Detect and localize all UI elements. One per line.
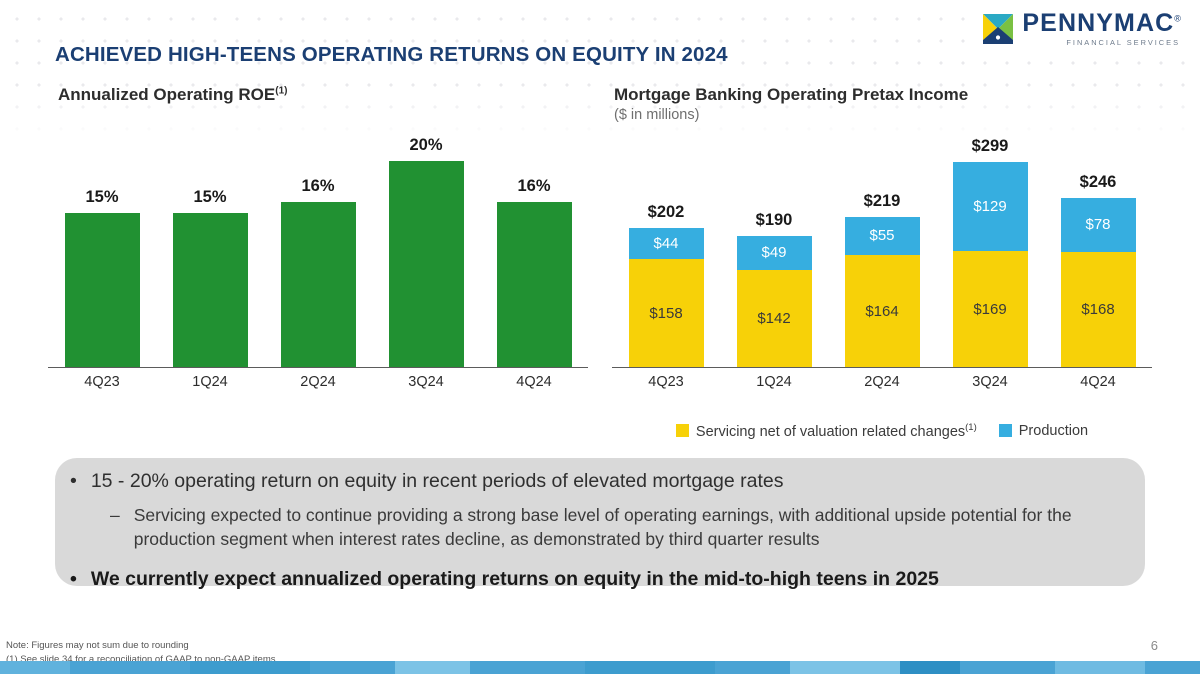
page-title: ACHIEVED HIGH-TEENS OPERATING RETURNS ON… <box>55 43 728 67</box>
bar-group: 16% <box>480 120 588 368</box>
bar-group: 15% <box>156 120 264 368</box>
bullet-item-1: • 15 - 20% operating return on equity in… <box>70 468 1160 494</box>
bullet-marker-icon: • <box>70 566 77 592</box>
bar-group: $202$44$158 <box>612 120 720 368</box>
right-chart-x-axis-labels: 4Q231Q242Q243Q244Q24 <box>612 370 1152 394</box>
dash-marker-icon: – <box>110 503 120 551</box>
x-axis-label: 4Q24 <box>480 374 588 390</box>
x-axis-label: 4Q23 <box>48 374 156 390</box>
bar-total-label: $190 <box>756 211 793 230</box>
left-chart-plot-area: 15%15%16%20%16% <box>48 120 588 368</box>
bar-segment-production-label: $44 <box>653 235 678 252</box>
bar-segment-production: $55 <box>845 217 920 255</box>
bar-segment-production: $129 <box>953 162 1028 251</box>
bar-group: $219$55$164 <box>828 120 936 368</box>
right-chart-heading: Mortgage Banking Operating Pretax Income <box>614 85 968 105</box>
pennymac-logo: PENNYMAC® FINANCIAL SERVICES <box>977 8 1186 49</box>
bar-segment-servicing-label: $164 <box>865 303 898 320</box>
x-axis-label: 4Q23 <box>612 374 720 390</box>
x-axis-label: 3Q24 <box>936 374 1044 390</box>
right-chart-legend: Servicing net of valuation related chang… <box>612 422 1152 440</box>
bar-value-label: 16% <box>301 177 334 196</box>
stacked-bar: $55$164 <box>845 217 920 368</box>
bullet-item-3-text: We currently expect annualized operating… <box>91 566 939 592</box>
bar-group: $246$78$168 <box>1044 120 1152 368</box>
bar-segment-servicing: $164 <box>845 255 920 368</box>
bar-segment-servicing-label: $168 <box>1081 301 1114 318</box>
bar-segment-servicing: $158 <box>629 259 704 368</box>
x-axis-label: 2Q24 <box>828 374 936 390</box>
bar-segment-production-label: $129 <box>973 198 1006 215</box>
right-chart-subtitle: ($ in millions) <box>614 107 699 123</box>
stacked-bar: $49$142 <box>737 236 812 368</box>
bar-segment-servicing-label: $158 <box>649 305 682 322</box>
x-axis-label: 3Q24 <box>372 374 480 390</box>
bar-group: 20% <box>372 120 480 368</box>
bar-segment-servicing: $168 <box>1061 252 1136 368</box>
bar-group: $299$129$169 <box>936 120 1044 368</box>
legend-item-production: Production <box>999 423 1088 439</box>
x-axis-label: 4Q24 <box>1044 374 1152 390</box>
bullet-item-1-text: 15 - 20% operating return on equity in r… <box>91 468 784 494</box>
legend-servicing-footnote: (1) <box>965 422 977 433</box>
bar-group: $190$49$142 <box>720 120 828 368</box>
bar-segment-production-label: $55 <box>869 227 894 244</box>
left-chart-heading-footnote: (1) <box>275 85 287 96</box>
x-axis-label: 1Q24 <box>720 374 828 390</box>
left-chart-heading-text: Annualized Operating ROE <box>58 85 275 104</box>
bullet-item-2-text: Servicing expected to continue providing… <box>134 503 1110 551</box>
bullet-marker-icon: • <box>70 468 77 494</box>
mortgage-banking-pretax-income-chart: $202$44$158$190$49$142$219$55$164$299$12… <box>612 120 1152 390</box>
bar-value-label: 16% <box>517 177 550 196</box>
logo-trademark: ® <box>1174 14 1182 24</box>
legend-swatch-production-icon <box>999 424 1012 437</box>
bar-group: 15% <box>48 120 156 368</box>
bar-segment-servicing: $142 <box>737 270 812 368</box>
bar <box>173 213 248 368</box>
bullet-item-2: – Servicing expected to continue providi… <box>110 503 1110 551</box>
bottom-decorative-bar <box>0 661 1200 674</box>
bar <box>497 202 572 368</box>
legend-label-servicing: Servicing net of valuation related chang… <box>696 422 977 440</box>
bullet-item-3: • We currently expect annualized operati… <box>70 566 1160 592</box>
bar <box>389 161 464 368</box>
bar <box>281 202 356 368</box>
logo-tagline: FINANCIAL SERVICES <box>1066 39 1180 46</box>
bar-segment-production: $44 <box>629 228 704 258</box>
pennymac-logo-text: PENNYMAC® FINANCIAL SERVICES <box>1022 11 1182 46</box>
bar-value-label: 15% <box>193 188 226 207</box>
stacked-bar: $44$158 <box>629 228 704 368</box>
stacked-bar: $129$169 <box>953 162 1028 368</box>
bar-segment-servicing-label: $169 <box>973 301 1006 318</box>
page-number: 6 <box>1151 638 1158 653</box>
left-chart-heading: Annualized Operating ROE(1) <box>58 85 287 105</box>
bar-value-label: 15% <box>85 188 118 207</box>
legend-label-production: Production <box>1019 423 1088 439</box>
bar-total-label: $202 <box>648 203 685 222</box>
bar-segment-servicing-label: $142 <box>757 310 790 327</box>
bar-total-label: $299 <box>972 137 1009 156</box>
bar-total-label: $219 <box>864 192 901 211</box>
bar-segment-production-label: $49 <box>761 244 786 261</box>
legend-item-servicing: Servicing net of valuation related chang… <box>676 422 977 440</box>
pennymac-logo-icon <box>983 14 1013 44</box>
takeaways-bullet-list: • 15 - 20% operating return on equity in… <box>70 468 1160 592</box>
left-chart-x-axis-labels: 4Q231Q242Q243Q244Q24 <box>48 370 588 394</box>
footnote-note: Note: Figures may not sum due to roundin… <box>6 639 275 653</box>
right-chart-plot-area: $202$44$158$190$49$142$219$55$164$299$12… <box>612 120 1152 368</box>
x-axis-label: 2Q24 <box>264 374 372 390</box>
left-chart-axis-line <box>48 367 588 369</box>
stacked-bar: $78$168 <box>1061 198 1136 368</box>
bar <box>65 213 140 368</box>
bar-group: 16% <box>264 120 372 368</box>
x-axis-label: 1Q24 <box>156 374 264 390</box>
legend-swatch-servicing-icon <box>676 424 689 437</box>
bar-segment-production: $49 <box>737 236 812 270</box>
logo-wordmark: PENNYMAC® <box>1022 11 1182 36</box>
bar-segment-servicing: $169 <box>953 251 1028 368</box>
bar-value-label: 20% <box>409 136 442 155</box>
bar-segment-production-label: $78 <box>1085 216 1110 233</box>
annualized-operating-roe-chart: 15%15%16%20%16% 4Q231Q242Q243Q244Q24 <box>48 120 588 390</box>
bar-segment-production: $78 <box>1061 198 1136 252</box>
right-chart-axis-line <box>612 367 1152 369</box>
bar-total-label: $246 <box>1080 173 1117 192</box>
